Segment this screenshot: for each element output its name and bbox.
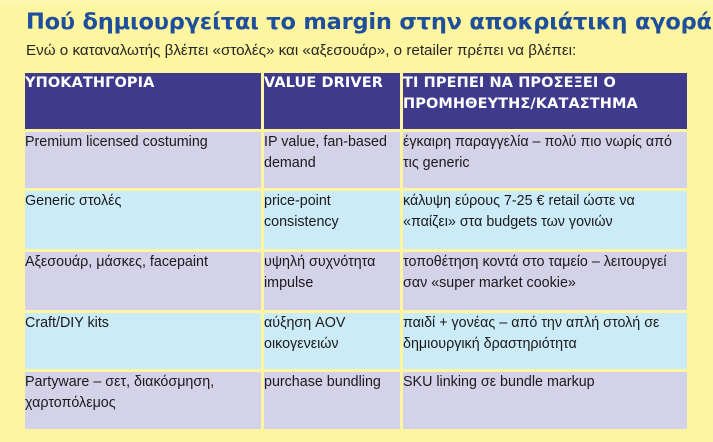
page-title: Πού δημιουργείται το margin στην αποκριά… — [26, 8, 696, 36]
table-row: Partyware – σετ, διακόσμηση, χαρτοπόλεμο… — [25, 372, 687, 429]
cell-subcategory: Premium licensed costuming — [25, 132, 261, 188]
cell-subcategory: Craft/DIY kits — [25, 313, 261, 369]
cell-watch-out: έγκαιρη παραγγελία – πολύ πιο νωρίς από … — [403, 132, 687, 188]
table-row: Craft/DIY kits αύξηση AOV οικογενειών πα… — [25, 313, 687, 369]
table-header: ΥΠΟΚΑΤΗΓΟΡΙΑ VALUE DRIVER ΤΙ ΠΡΕΠΕΙ ΝΑ Π… — [25, 73, 687, 129]
column-header-watch-out: ΤΙ ΠΡΕΠΕΙ ΝΑ ΠΡΟΣΕΞΕΙ Ο ΠΡΟΜΗΘΕΥΤΗΣ/ΚΑΤΑ… — [403, 73, 687, 129]
table-body: Premium licensed costuming IP value, fan… — [25, 132, 687, 429]
cell-value-driver: price-point consistency — [264, 191, 400, 249]
column-header-subcategory: ΥΠΟΚΑΤΗΓΟΡΙΑ — [25, 73, 261, 129]
cell-subcategory: Αξεσουάρ, μάσκες, facepaint — [25, 252, 261, 310]
cell-value-driver: purchase bundling — [264, 372, 400, 429]
top-accent-strip — [0, 0, 713, 5]
cell-subcategory: Generic στολές — [25, 191, 261, 249]
cell-value-driver: υψηλή συχνότητα impulse — [264, 252, 400, 310]
cell-subcategory: Partyware – σετ, διακόσμηση, χαρτοπόλεμο… — [25, 372, 261, 429]
cell-value-driver: IP value, fan-based demand — [264, 132, 400, 188]
column-header-value-driver: VALUE DRIVER — [264, 73, 400, 129]
cell-watch-out: τοποθέτηση κοντά στο ταμείο – λειτουργεί… — [403, 252, 687, 310]
cell-value-driver: αύξηση AOV οικογενειών — [264, 313, 400, 369]
page-subtitle: Ενώ ο καταναλωτής βλέπει «στολές» και «α… — [26, 41, 698, 61]
cell-watch-out: κάλυψη εύρους 7-25 € retail ώστε να «παί… — [403, 191, 687, 249]
margin-breakdown-table: ΥΠΟΚΑΤΗΓΟΡΙΑ VALUE DRIVER ΤΙ ΠΡΕΠΕΙ ΝΑ Π… — [22, 70, 690, 432]
table-row: Αξεσουάρ, μάσκες, facepaint υψηλή συχνότ… — [25, 252, 687, 310]
cell-watch-out: SKU linking σε bundle markup — [403, 372, 687, 429]
table-row: Generic στολές price-point consistency κ… — [25, 191, 687, 249]
table-header-row: ΥΠΟΚΑΤΗΓΟΡΙΑ VALUE DRIVER ΤΙ ΠΡΕΠΕΙ ΝΑ Π… — [25, 73, 687, 129]
cell-watch-out: παιδί + γονέας – από την απλή στολή σε δ… — [403, 313, 687, 369]
table-row: Premium licensed costuming IP value, fan… — [25, 132, 687, 188]
slide-canvas: Πού δημιουργείται το margin στην αποκριά… — [0, 0, 713, 442]
